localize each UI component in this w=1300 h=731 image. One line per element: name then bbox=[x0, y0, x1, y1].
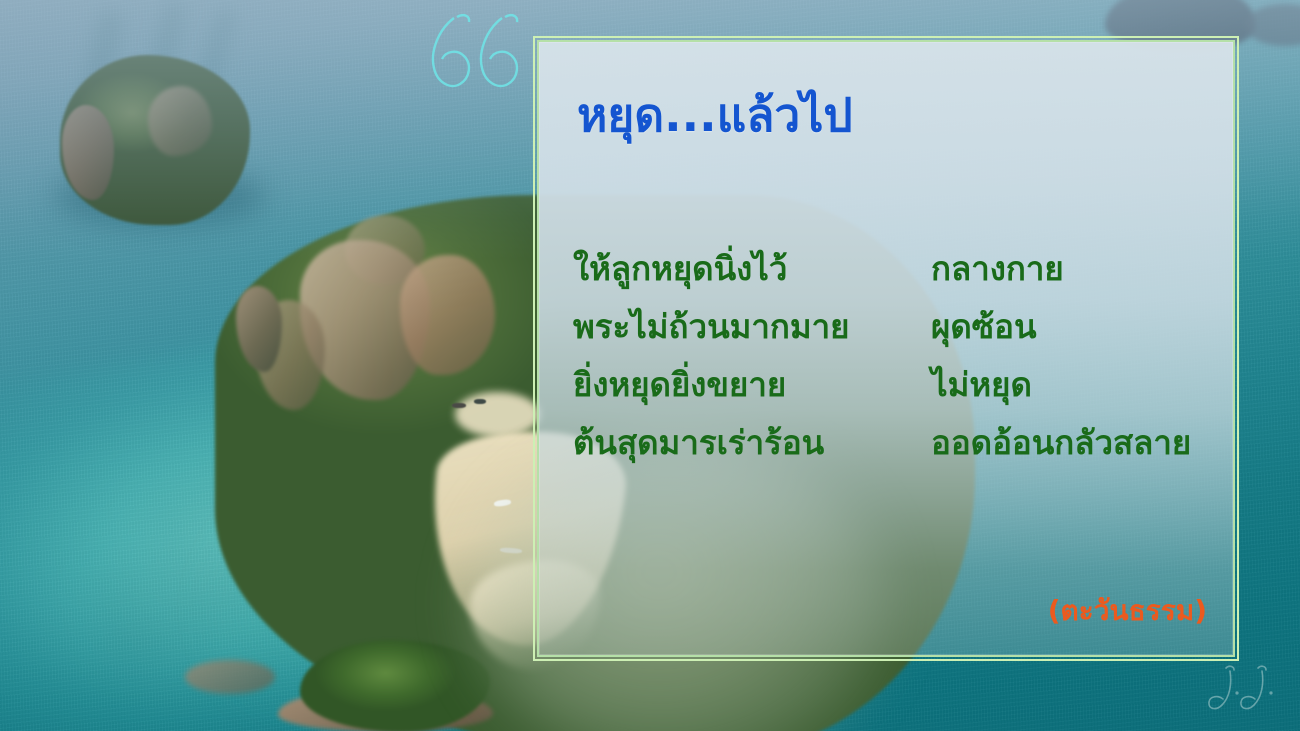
verse-left-hemistich: ให้ลูกหยุดนิ่งไว้ bbox=[573, 242, 931, 295]
verse-line: ยิ่งหยุดยิ่งขยาย ไม่หยุด bbox=[573, 358, 1213, 416]
submerged-rocks bbox=[185, 660, 275, 694]
forested-islet bbox=[300, 640, 490, 731]
verse-block: ให้ลูกหยุดนิ่งไว้ กลางกาย พระไม่ถ้วนมากม… bbox=[573, 242, 1213, 474]
verse-left-hemistich: พระไม่ถ้วนมากมาย bbox=[573, 300, 931, 353]
verse-line: พระไม่ถ้วนมากมาย ผุดซ้อน bbox=[573, 300, 1213, 358]
attribution-text: (ตะวันธรรม) bbox=[1048, 589, 1207, 633]
longtail-boat bbox=[452, 403, 466, 408]
verse-line: ให้ลูกหยุดนิ่งไว้ กลางกาย bbox=[573, 242, 1213, 300]
content-panel: หยุด...แล้วไป ให้ลูกหยุดนิ่งไว้ กลางกาย … bbox=[537, 40, 1235, 657]
longtail-boat bbox=[474, 399, 486, 404]
page-title: หยุด...แล้วไป bbox=[577, 90, 853, 141]
verse-right-hemistich: ออดอ้อนกลัวสลาย bbox=[931, 416, 1213, 469]
panel-inner: หยุด...แล้วไป ให้ลูกหยุดนิ่งไว้ กลางกาย … bbox=[539, 42, 1233, 655]
sand-beach bbox=[455, 392, 540, 437]
verse-left-hemistich: ต้นสุดมารเร่าร้อน bbox=[573, 416, 931, 469]
verse-right-hemistich: กลางกาย bbox=[931, 242, 1213, 295]
verse-right-hemistich: ไม่หยุด bbox=[931, 358, 1213, 411]
verse-line: ต้นสุดมารเร่าร้อน ออดอ้อนกลัวสลาย bbox=[573, 416, 1213, 474]
slide-canvas: หยุด...แล้วไป ให้ลูกหยุดนิ่งไว้ กลางกาย … bbox=[0, 0, 1300, 731]
verse-right-hemistich: ผุดซ้อน bbox=[931, 300, 1213, 353]
verse-left-hemistich: ยิ่งหยุดยิ่งขยาย bbox=[573, 358, 931, 411]
